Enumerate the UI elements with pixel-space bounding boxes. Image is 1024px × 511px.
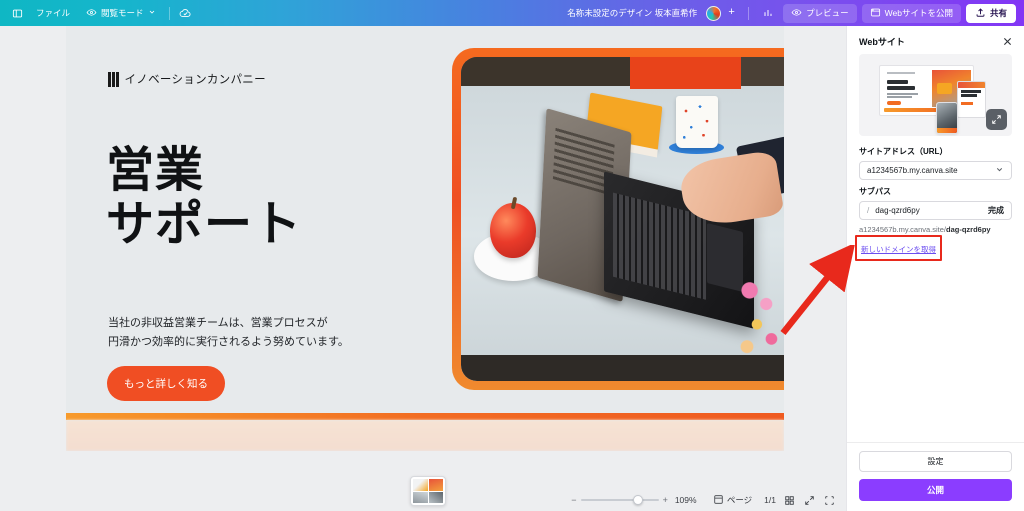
photo-background-red [630, 57, 741, 89]
publish-website-label: Webサイトを公開 [885, 7, 953, 19]
preview-button[interactable]: プレビュー [783, 4, 857, 23]
file-menu-label: ファイル [36, 7, 70, 19]
eye-icon [86, 7, 97, 20]
panel-footer: 設定 公開 [847, 442, 1024, 511]
chevron-down-icon [148, 8, 156, 18]
canvas-area[interactable]: イノベーションカンパニー 営業 サポート 当社の非収益営業チームは、営業プロセス… [0, 26, 846, 511]
canva-editor-window: ファイル 閲覧モード [0, 0, 1024, 511]
photo-cup [676, 96, 718, 148]
top-toolbar-left: ファイル 閲覧モード [0, 4, 196, 23]
bar-chart-icon[interactable] [758, 4, 778, 23]
pages-label: ページ [727, 494, 752, 506]
subpath-prefix: / [867, 206, 869, 215]
add-collaborator-button[interactable]: + [724, 6, 739, 21]
device-preview[interactable] [859, 54, 1012, 136]
zoom-in-button[interactable]: + [663, 495, 668, 505]
site-address-select[interactable]: a1234567b.my.canva.site [859, 161, 1012, 180]
present-icon[interactable] [823, 494, 836, 507]
zoom-out-button[interactable]: − [571, 495, 576, 505]
zoom-slider-track[interactable] [581, 499, 659, 501]
cloud-check-icon[interactable] [176, 4, 196, 23]
toolbar-divider-2 [748, 7, 749, 20]
upload-icon [975, 7, 986, 20]
photo-flowers [734, 271, 784, 368]
hero-photo [461, 57, 784, 381]
panel-left-icon[interactable] [7, 4, 27, 23]
get-new-domain-link[interactable]: 新しいドメインを取得 [859, 243, 938, 256]
photo-foreground [461, 355, 784, 381]
website-icon [870, 7, 881, 20]
expand-icon[interactable] [986, 109, 1007, 130]
page-headline: 営業 サポート [106, 144, 302, 252]
photo-background-dark [461, 57, 630, 86]
url-preview-base: a1234567b.my.canva.site/ [859, 225, 946, 234]
preview-phone [936, 102, 959, 135]
settings-button[interactable]: 設定 [859, 451, 1012, 472]
preview-tablet [957, 81, 986, 118]
grid-view-icon[interactable] [783, 494, 796, 507]
share-label: 共有 [990, 7, 1007, 19]
url-preview: a1234567b.my.canva.site/dag-qzrd6py [859, 225, 1012, 235]
zoom-slider[interactable]: − + [571, 495, 668, 505]
expand-icon[interactable] [803, 494, 816, 507]
top-toolbar-right: 名称未設定のデザイン 坂本直希作 + プレビュー [567, 4, 1024, 23]
subpath-label: サブパス [859, 186, 1012, 197]
page-footer [66, 420, 784, 451]
subpath-field[interactable]: / 完成 [859, 201, 1012, 220]
panel-title: Webサイト [859, 35, 905, 48]
collaborators: + [706, 6, 739, 21]
eye-icon [791, 7, 802, 20]
view-mode-button[interactable]: 閲覧モード [79, 4, 163, 23]
close-icon[interactable] [1000, 34, 1014, 48]
publish-button[interactable]: 公開 [859, 479, 1012, 501]
top-toolbar: ファイル 閲覧モード [0, 0, 1024, 26]
design-page[interactable]: イノベーションカンパニー 営業 サポート 当社の非収益営業チームは、営業プロセス… [66, 26, 784, 451]
photo-apple [490, 203, 536, 258]
brand-logo: イノベーションカンパニー [108, 71, 266, 87]
url-preview-path: dag-qzrd6py [946, 225, 991, 234]
website-panel: Webサイト [846, 26, 1024, 511]
subpath-done-button[interactable]: 完成 [988, 205, 1004, 216]
logo-mark-icon [108, 72, 119, 87]
share-button[interactable]: 共有 [966, 4, 1016, 23]
logo-text: イノベーションカンパニー [125, 71, 266, 87]
toolbar-divider [169, 7, 170, 20]
zoom-level: 109% [675, 495, 701, 505]
file-menu-button[interactable]: ファイル [29, 4, 77, 23]
publish-website-button[interactable]: Webサイトを公開 [862, 4, 961, 23]
subpath-input[interactable] [875, 206, 988, 215]
design-title[interactable]: 名称未設定のデザイン 坂本直希作 [567, 7, 701, 19]
get-domain-link-wrapper: 新しいドメインを取得 [859, 239, 938, 257]
zoom-slider-handle[interactable] [633, 495, 643, 505]
learn-more-button[interactable]: もっと詳しく知る [107, 366, 225, 401]
bottom-toolbar: − + 109% ページ 1/1 [0, 489, 846, 511]
hero-image-frame[interactable] [452, 48, 784, 390]
chevron-down-icon [995, 165, 1004, 176]
pages-icon [713, 494, 724, 507]
site-address-label: サイトアドレス（URL） [859, 146, 1012, 157]
panel-body: サイトアドレス（URL） a1234567b.my.canva.site サブパ… [847, 54, 1024, 442]
panel-header: Webサイト [847, 26, 1024, 54]
page-accent-bar [66, 413, 784, 420]
avatar[interactable] [706, 6, 721, 21]
page-count: 1/1 [764, 495, 776, 505]
page-subcopy: 当社の非収益営業チームは、営業プロセスが 円滑かつ効率的に実行されるよう努めてい… [108, 314, 349, 353]
site-address-value: a1234567b.my.canva.site [867, 166, 958, 175]
preview-label: プレビュー [806, 7, 849, 19]
pages-button[interactable]: ページ [708, 492, 757, 509]
view-mode-label: 閲覧モード [101, 7, 144, 19]
